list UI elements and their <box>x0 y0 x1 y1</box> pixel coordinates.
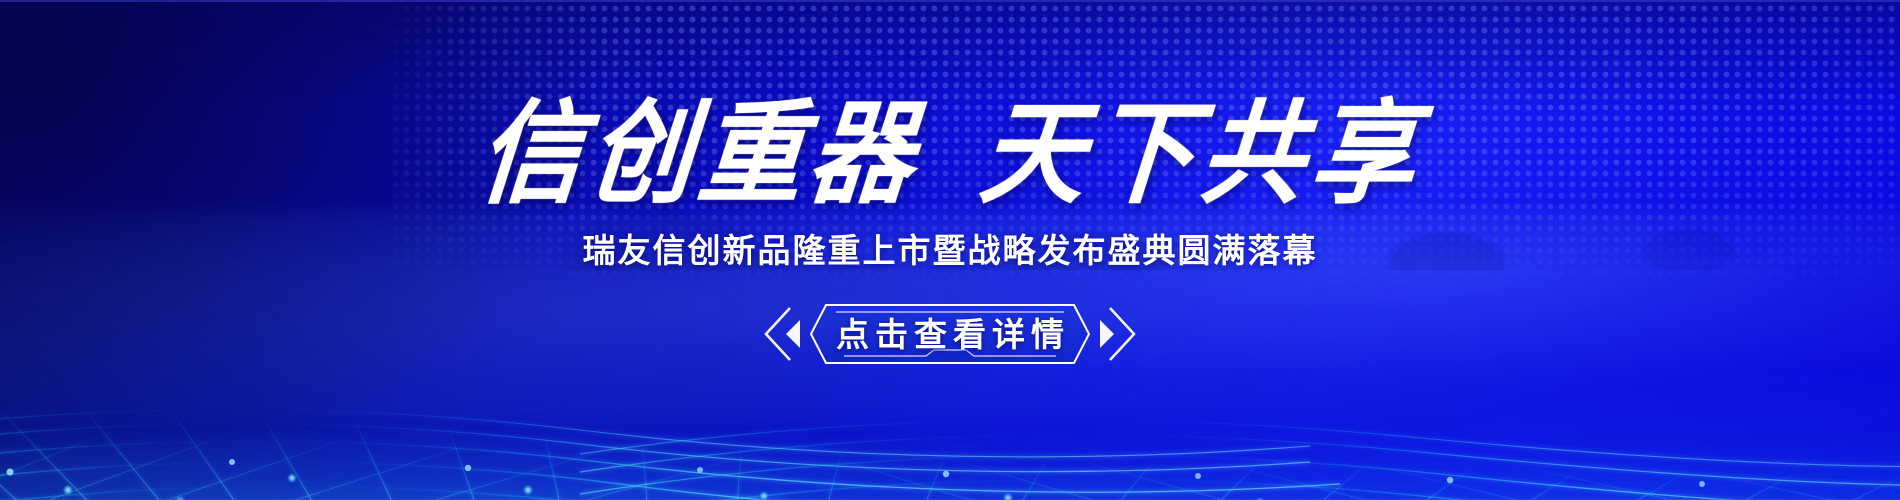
view-details-button[interactable]: 点击查看详情 <box>810 304 1090 364</box>
double-chevron-right-icon <box>1094 306 1140 362</box>
headline-left: 信创重器 <box>474 100 924 212</box>
double-chevron-left-icon <box>760 306 806 362</box>
cta-label: 点击查看详情 <box>830 318 1070 351</box>
banner-content: 信创重器 天下共享 瑞友信创新品隆重上市暨战略发布盛典圆满落幕 <box>0 0 1900 500</box>
subtitle: 瑞友信创新品隆重上市暨战略发布盛典圆满落幕 <box>583 234 1318 267</box>
headline-right: 天下共享 <box>976 100 1426 212</box>
promo-banner: 信创重器 天下共享 瑞友信创新品隆重上市暨战略发布盛典圆满落幕 <box>0 0 1900 500</box>
cta-row: 点击查看详情 <box>760 304 1140 364</box>
headline: 信创重器 天下共享 <box>474 100 1426 212</box>
